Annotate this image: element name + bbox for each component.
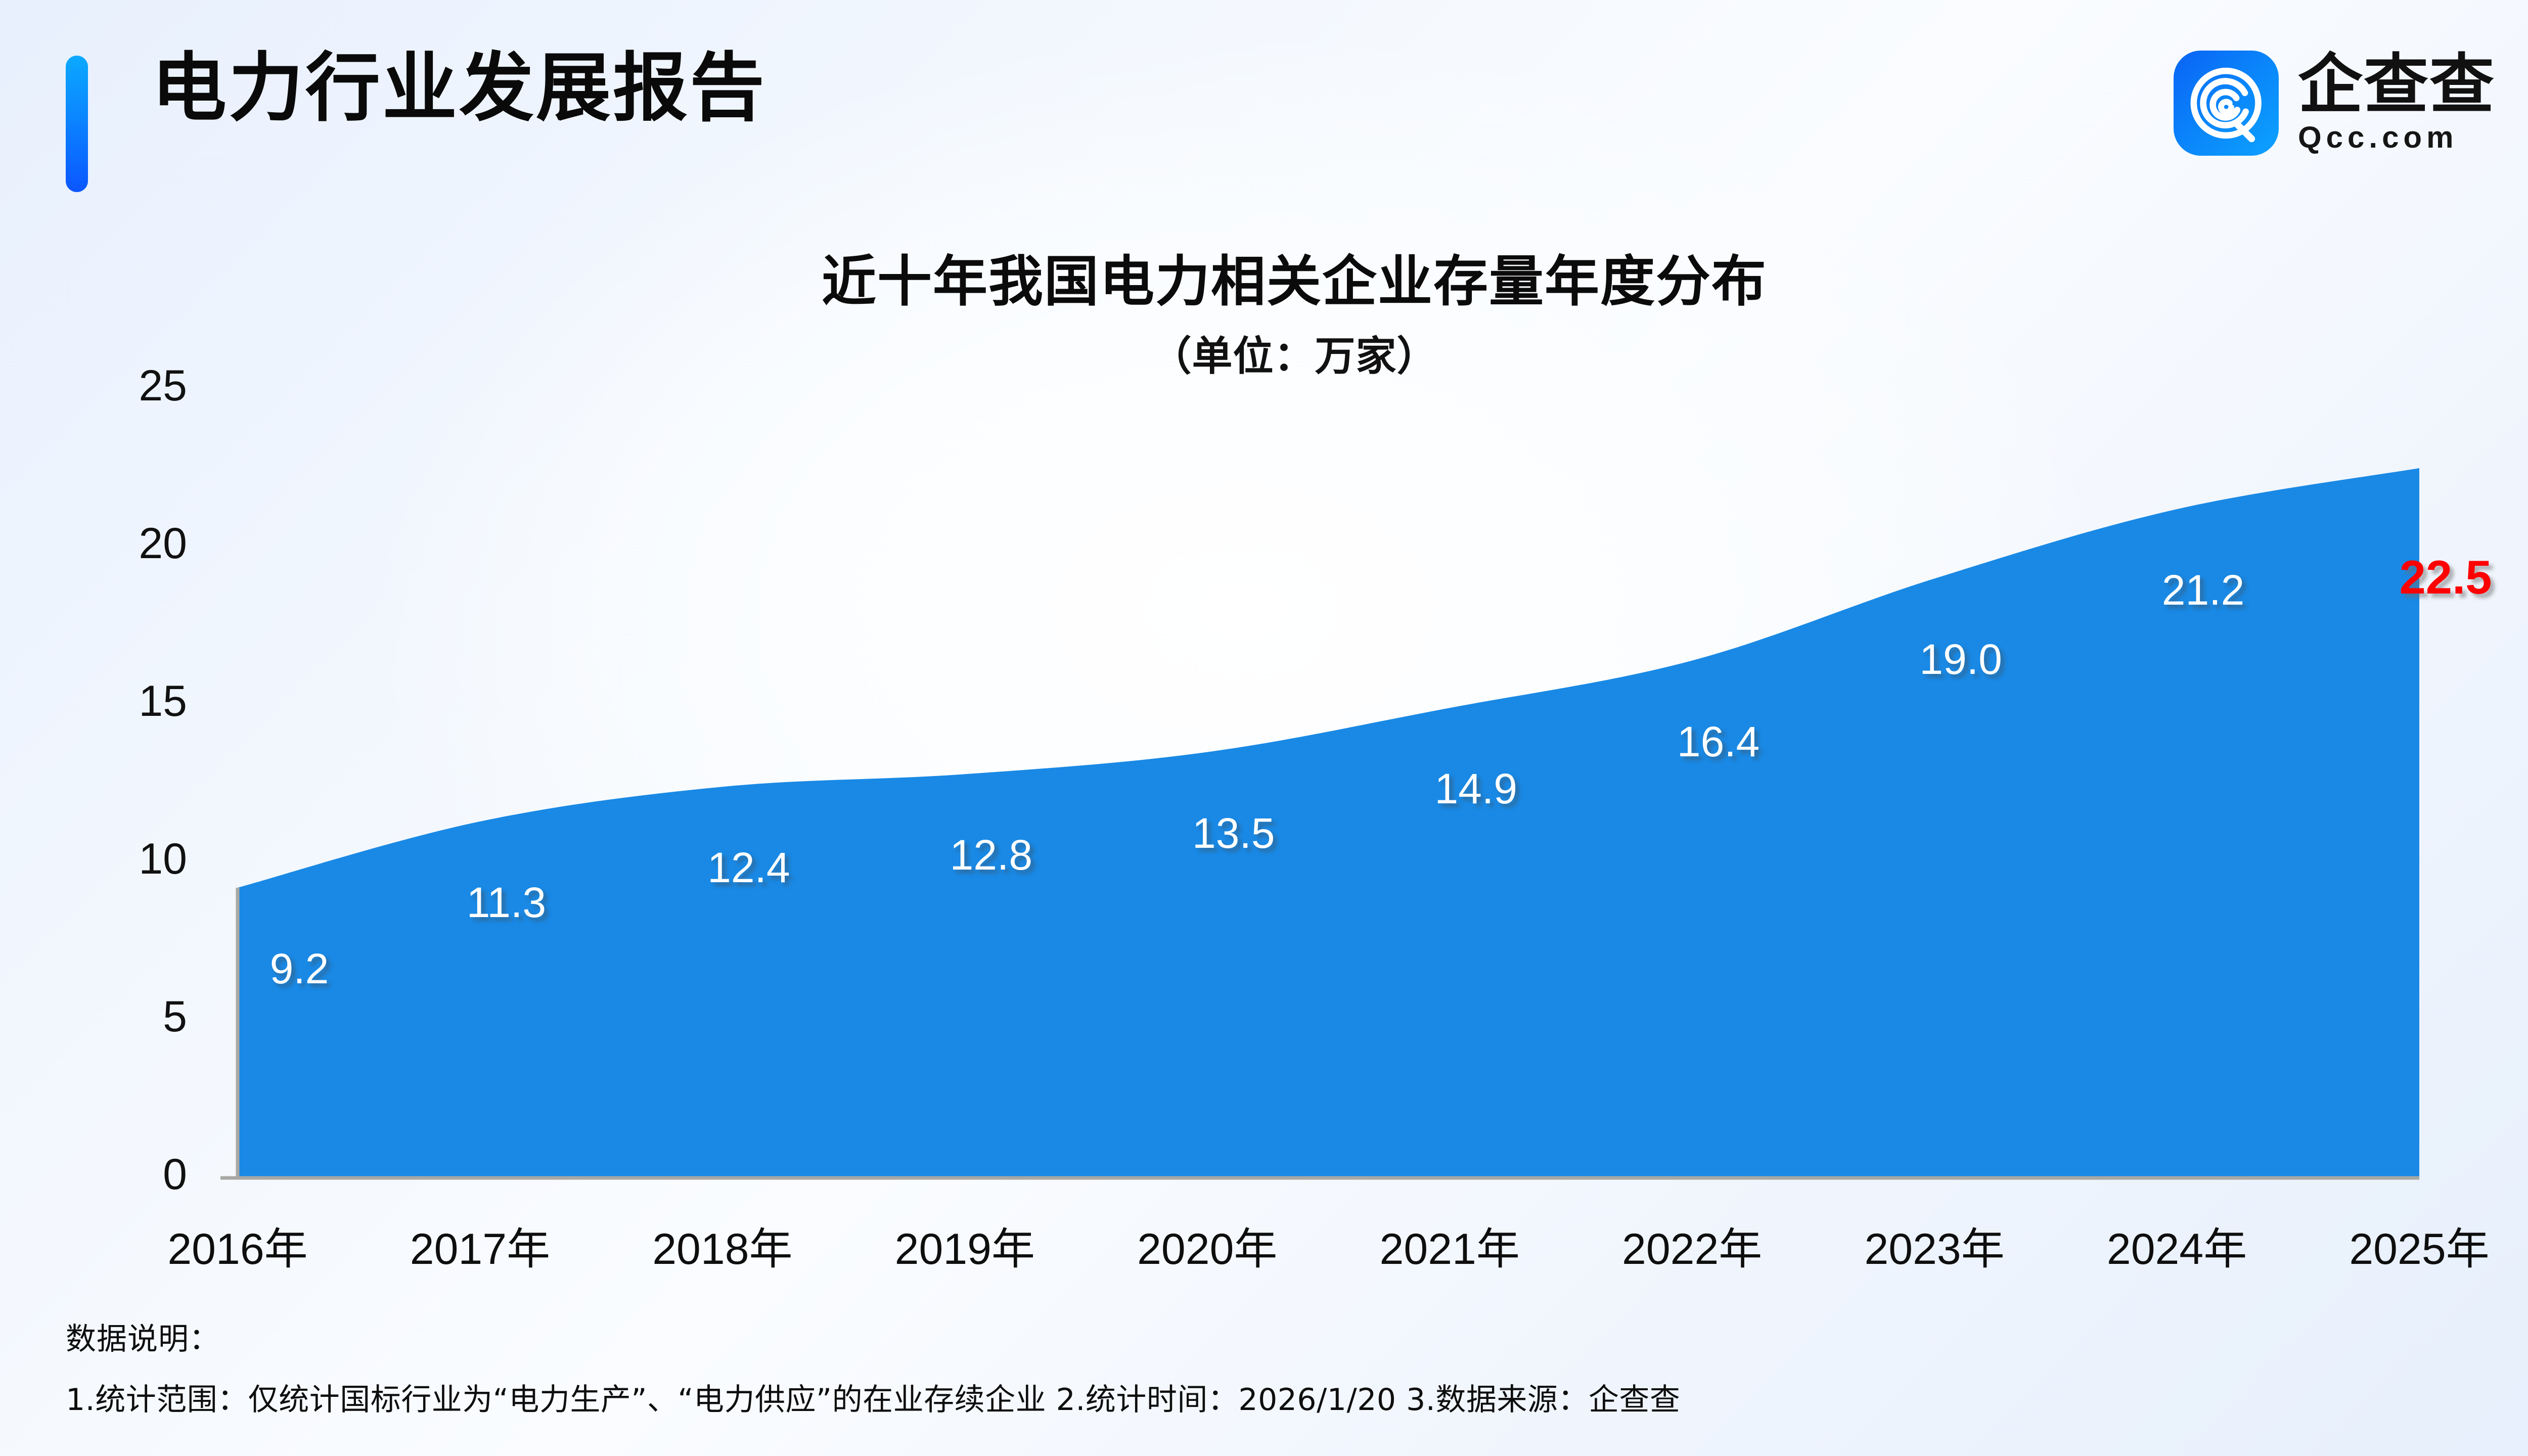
y-axis-tick-20: 20 (66, 519, 187, 569)
x-axis-tick-2023年: 2023年 (1803, 1213, 2066, 1277)
x-axis-tick-2021年: 2021年 (1318, 1213, 1581, 1277)
data-label-2022年: 16.4 (1628, 717, 1810, 766)
y-axis-tick-5: 5 (66, 992, 187, 1042)
data-label-2018年: 12.4 (658, 843, 840, 892)
x-axis-tick-2022年: 2022年 (1561, 1213, 1824, 1277)
x-axis-tick-2017年: 2017年 (348, 1213, 611, 1277)
area-series-fill (238, 468, 2419, 1178)
notes-heading: 数据说明： (66, 1314, 220, 1358)
data-label-2016年: 9.2 (208, 944, 390, 993)
data-label-2024年: 21.2 (2112, 566, 2294, 615)
x-axis-tick-2019年: 2019年 (833, 1213, 1096, 1277)
data-label-2020年: 13.5 (1143, 809, 1325, 858)
x-axis-tick-2016年: 2016年 (106, 1213, 369, 1277)
y-axis-tick-15: 15 (66, 676, 187, 726)
y-axis-tick-0: 0 (66, 1150, 187, 1200)
x-axis-tick-2020年: 2020年 (1076, 1213, 1339, 1277)
y-axis-tick-25: 25 (66, 361, 187, 411)
x-axis-tick-2018年: 2018年 (591, 1213, 854, 1277)
x-axis-tick-2024年: 2024年 (2046, 1213, 2309, 1277)
data-label-2021年: 14.9 (1385, 764, 1567, 813)
y-axis-tick-10: 10 (66, 834, 187, 884)
data-label-2023年: 19.0 (1870, 635, 2052, 684)
data-label-2017年: 11.3 (415, 878, 597, 927)
x-axis-tick-2025年: 2025年 (2288, 1213, 2528, 1277)
data-label-2019年: 12.8 (900, 831, 1082, 880)
notes-line: 1.统计范围：仅统计国标行业为“电力生产”、“电力供应”的在业存续企业 2.统计… (66, 1375, 1680, 1419)
data-label-2025年: 22.5 (2355, 550, 2528, 605)
area-chart: 2520151050 2016年2017年2018年2019年2020年2021… (0, 0, 2528, 1456)
